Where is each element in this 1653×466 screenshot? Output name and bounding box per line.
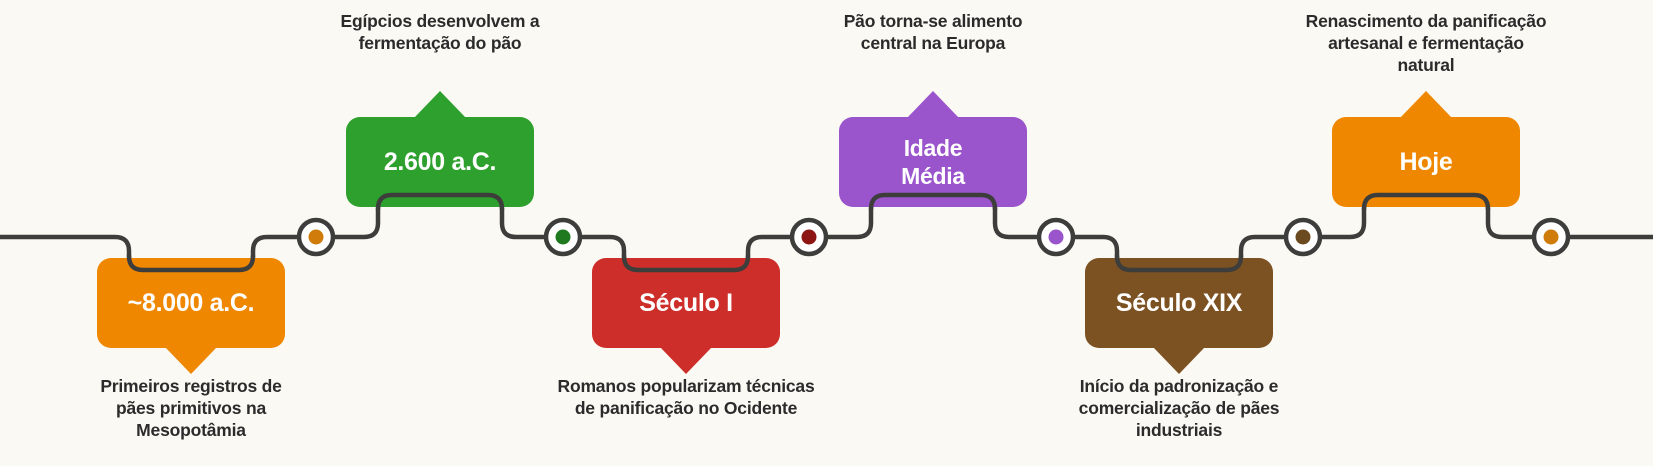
node-dot-seculo-xix bbox=[1296, 230, 1311, 245]
timeline-infographic: ~8.000 a.C.2.600 a.C.Século IIdade Média… bbox=[0, 0, 1653, 466]
node-dot-egipcios bbox=[556, 230, 571, 245]
timeline-node-hoje[interactable] bbox=[1534, 220, 1568, 254]
timeline-node-egipcios[interactable] bbox=[546, 220, 580, 254]
milestone-caption-idade-media: Pão torna-se alimento central na Europa bbox=[823, 10, 1043, 54]
node-dot-romanos bbox=[802, 230, 817, 245]
milestone-caption-romanos: Romanos popularizam técnicas de panifica… bbox=[546, 375, 826, 419]
node-dot-mesopotamia bbox=[309, 230, 324, 245]
milestone-caption-egipcios: Egípcios desenvolvem a fermentação do pã… bbox=[330, 10, 550, 54]
timeline-node-romanos[interactable] bbox=[792, 220, 826, 254]
timeline-node-mesopotamia[interactable] bbox=[299, 220, 333, 254]
milestone-caption-mesopotamia: Primeiros registros de pães primitivos n… bbox=[91, 375, 291, 441]
timeline-node-idade-media[interactable] bbox=[1039, 220, 1073, 254]
milestone-caption-seculo-xix: Início da padronização e comercialização… bbox=[1059, 375, 1299, 441]
milestone-caption-hoje: Renascimento da panificação artesanal e … bbox=[1290, 10, 1562, 76]
node-dot-hoje bbox=[1544, 230, 1559, 245]
timeline-node-seculo-xix[interactable] bbox=[1286, 220, 1320, 254]
node-dot-idade-media bbox=[1049, 230, 1064, 245]
